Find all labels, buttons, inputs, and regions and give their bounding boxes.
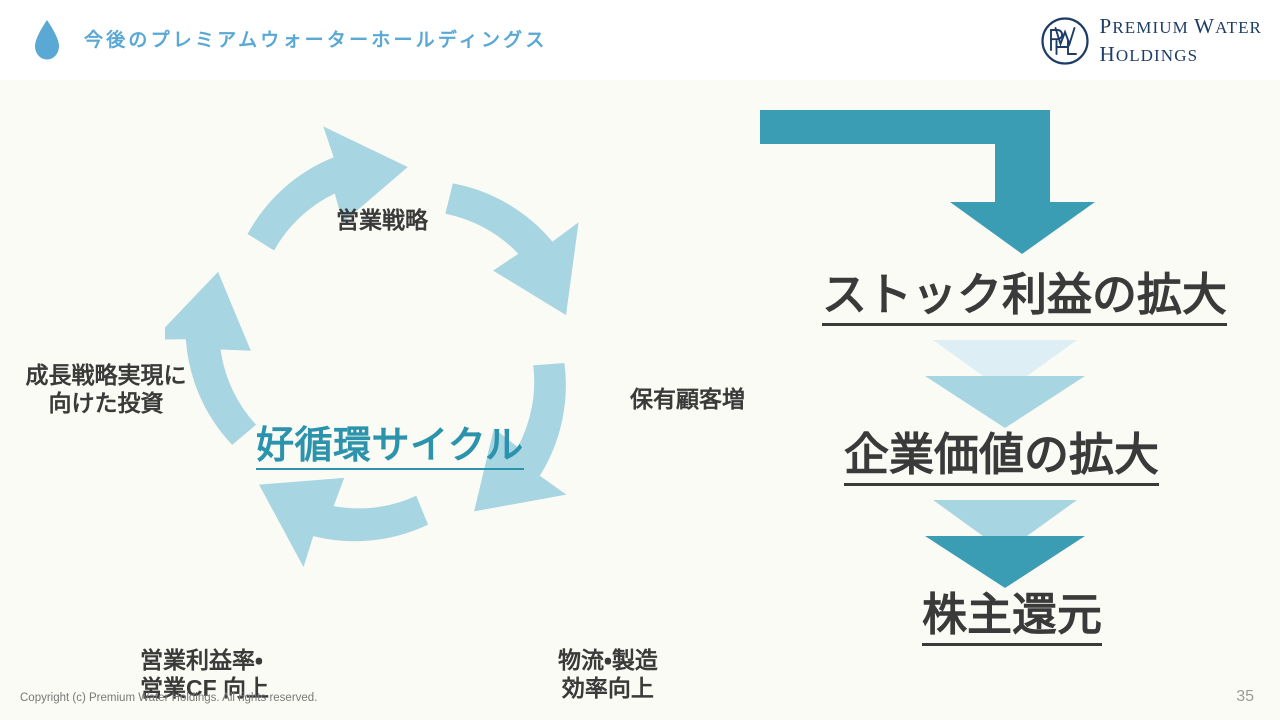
slide-header: 今後のプレミアムウォーターホールディングス <box>0 0 1280 80</box>
outcome-flow-diagram: ストック利益の拡大 企業価値の拡大 株主還元 <box>740 80 1280 660</box>
cycle-label-customer-growth: 保有顧客増 <box>630 385 745 413</box>
virtuous-cycle-diagram: 好循環サイクル 営業戦略 保有顧客増 物流・製造 効率向上 営業利益率・ 営業C… <box>0 80 760 660</box>
footer-copyright: Copyright (c) Premium Water Holdings. Al… <box>20 692 317 704</box>
logo-line-2: HOLDINGS <box>1100 41 1262 69</box>
page-number: 35 <box>1236 688 1254 706</box>
logo-wordmark: PREMIUM WATER HOLDINGS <box>1100 13 1262 68</box>
water-drop-icon <box>34 20 60 60</box>
flow-step-shareholder-return: 株主還元 <box>922 592 1102 646</box>
cycle-center-label: 好循環サイクル <box>256 427 524 470</box>
cycle-label-sales-strategy: 営業戦略 <box>336 206 428 234</box>
cycle-label-logistics-manufacturing: 物流・製造 効率向上 <box>558 646 658 702</box>
page-title: 今後のプレミアムウォーターホールディングス <box>84 25 548 52</box>
down-chevron-icon <box>915 338 1095 430</box>
down-chevron-icon <box>915 498 1095 590</box>
cycle-label-growth-investment: 成長戦略実現に 向けた投資 <box>8 361 204 417</box>
slide-canvas: 今後のプレミアムウォーターホールディングス <box>0 0 1280 720</box>
cycle-arrows-group <box>165 110 605 590</box>
elbow-down-arrow-icon <box>750 102 1120 257</box>
flow-step-stock-profit: ストック利益の拡大 <box>822 272 1227 326</box>
flow-step-corporate-value: 企業価値の拡大 <box>844 432 1159 486</box>
company-logo: PREMIUM WATER HOLDINGS <box>1040 13 1262 68</box>
pwh-monogram-icon <box>1040 16 1090 66</box>
logo-line-1: PREMIUM WATER <box>1100 13 1262 41</box>
